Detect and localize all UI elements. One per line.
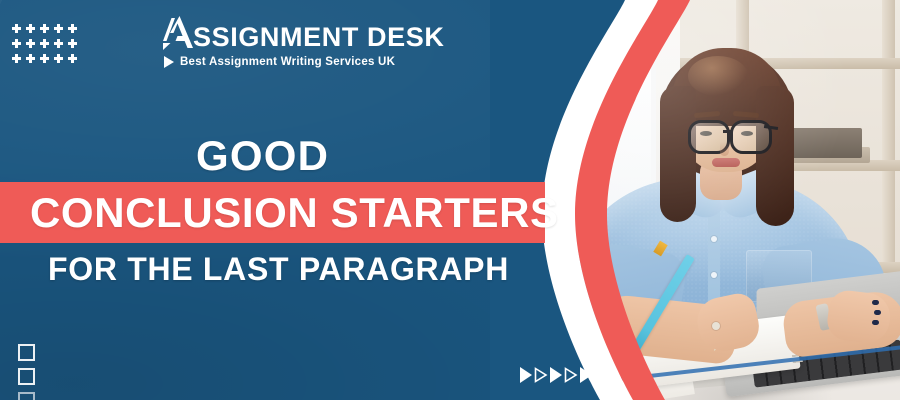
logo-tagline: Best Assignment Writing Services UK xyxy=(180,56,395,68)
glasses-bridge xyxy=(723,130,732,133)
grid-dot xyxy=(26,39,35,48)
logo-wordmark: SSIGNMENT DESK xyxy=(193,22,444,52)
shirt-button xyxy=(711,236,717,242)
grid-dot xyxy=(68,54,77,63)
outlined-square-column xyxy=(18,344,35,400)
triangle-arrow-icon xyxy=(550,367,562,383)
triangle-arrow-icon xyxy=(580,367,592,383)
headline-line-3: FOR THE LAST PARAGRAPH xyxy=(48,250,509,288)
fingernail xyxy=(872,320,879,325)
grid-dot xyxy=(68,24,77,33)
triangle-arrow-row xyxy=(520,367,608,383)
grid-dot xyxy=(40,54,49,63)
logo-wordmark-row: SSIGNMENT DESK xyxy=(160,16,390,52)
shirt-button xyxy=(711,272,717,278)
student-writing-photo xyxy=(560,0,900,400)
hair-side-left xyxy=(660,86,696,222)
pencil-a-monogram-icon xyxy=(160,14,194,52)
play-triangle-icon xyxy=(164,56,174,68)
grid-dot xyxy=(12,39,21,48)
grid-dot xyxy=(54,24,63,33)
hair-fringe xyxy=(678,58,776,102)
promo-banner: SSIGNMENT DESK Best Assignment Writing S… xyxy=(0,0,900,400)
grid-dot xyxy=(12,24,21,33)
photo-canvas xyxy=(560,0,900,400)
headline-line-1: GOOD xyxy=(196,133,329,179)
logo-tagline-row: Best Assignment Writing Services UK xyxy=(164,56,390,68)
outlined-square-icon xyxy=(18,368,35,385)
fingernail xyxy=(874,310,881,315)
plus-dot-grid-icon xyxy=(12,24,82,69)
ring-icon xyxy=(712,322,720,330)
grid-dot xyxy=(40,24,49,33)
fingernail xyxy=(872,300,879,305)
outlined-square-icon xyxy=(18,344,35,361)
hair-side-right xyxy=(756,86,794,226)
brand-logo[interactable]: SSIGNMENT DESK Best Assignment Writing S… xyxy=(160,16,390,74)
grid-dot xyxy=(68,39,77,48)
triangle-arrow-outline-icon xyxy=(594,367,608,383)
triangle-arrow-outline-icon xyxy=(564,367,578,383)
headline-line-2: CONCLUSION STARTERS xyxy=(30,188,559,238)
lips xyxy=(712,158,740,167)
triangle-arrow-outline-icon xyxy=(534,367,548,383)
grid-dot xyxy=(26,24,35,33)
grid-dot xyxy=(54,54,63,63)
triangle-arrow-icon xyxy=(520,367,532,383)
grid-dot xyxy=(40,39,49,48)
nose xyxy=(720,142,729,156)
outlined-square-icon xyxy=(18,392,35,400)
grid-dot xyxy=(26,54,35,63)
grid-dot xyxy=(54,39,63,48)
grid-dot xyxy=(12,54,21,63)
